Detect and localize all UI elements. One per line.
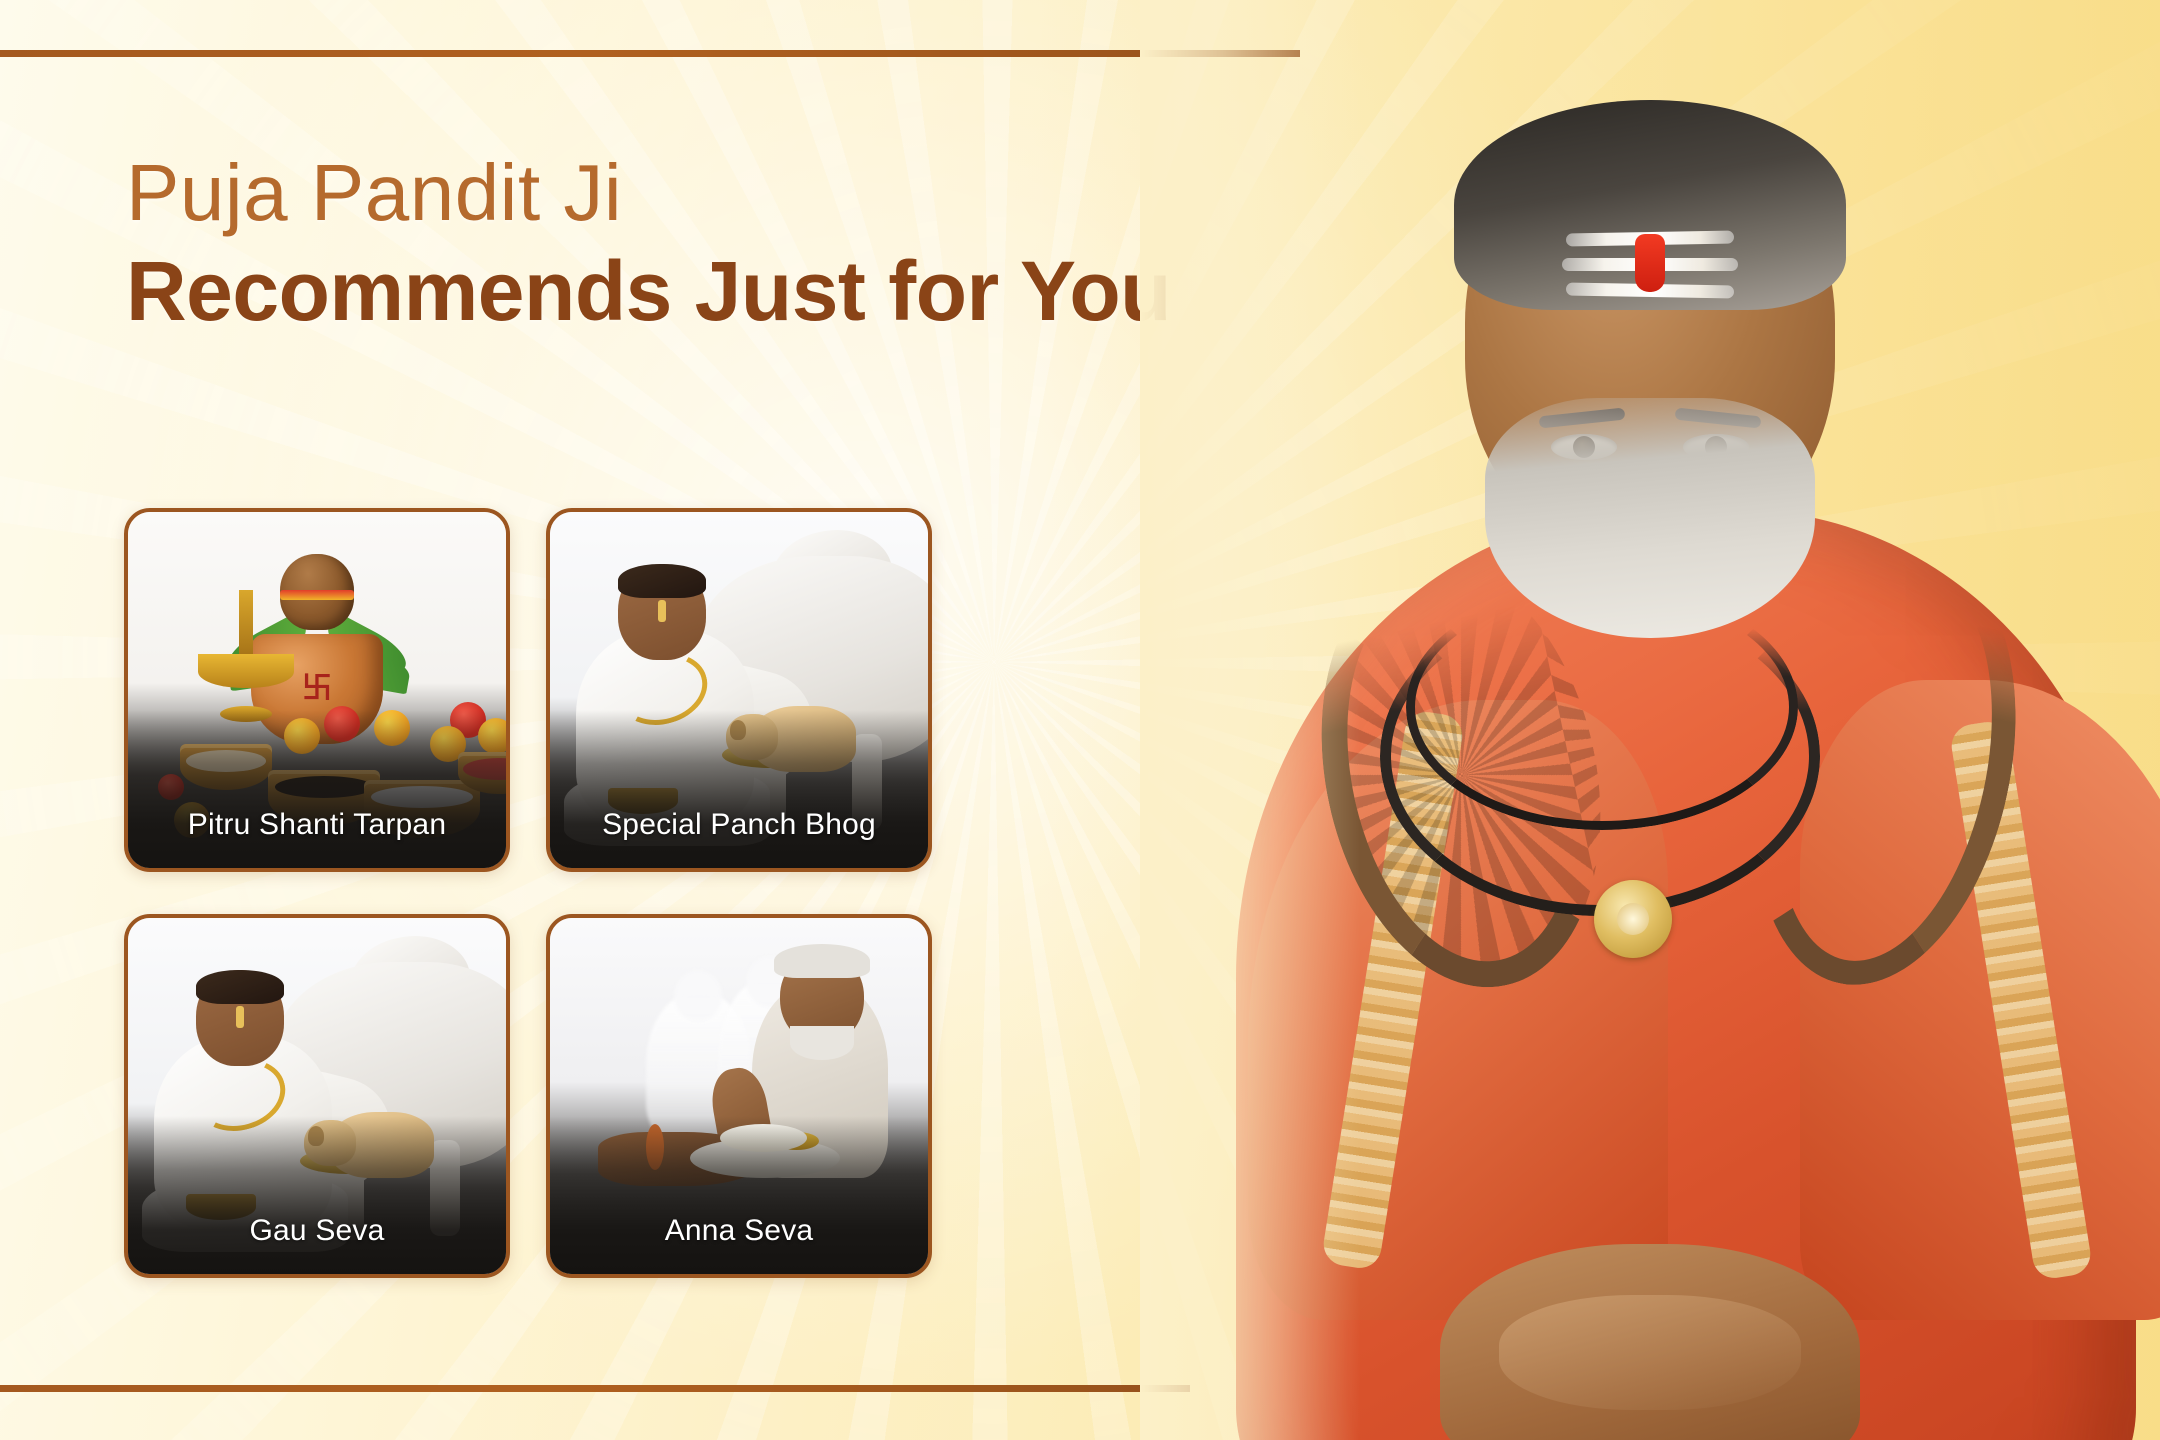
service-card-anna-seva[interactable]: Anna Seva — [546, 914, 932, 1278]
pandit-ji-portrait — [1140, 0, 2160, 1440]
heading-kicker: Puja Pandit Ji — [126, 150, 1171, 236]
recommendation-banner: Puja Pandit Ji Recommends Just for You — [0, 0, 2160, 1440]
card-label: Anna Seva — [550, 1116, 928, 1274]
recommendation-card-grid: Pitru Shanti Tarpan Speci — [124, 508, 932, 1278]
divider-line-top — [0, 50, 1300, 57]
black-bead-mala — [1406, 584, 1798, 830]
service-card-special-panch-bhog[interactable]: Special Panch Bhog — [546, 508, 932, 872]
heading-main: Recommends Just for You — [126, 246, 1171, 337]
card-label: Pitru Shanti Tarpan — [128, 710, 506, 868]
coconut-icon — [280, 554, 354, 630]
card-label: Gau Seva — [128, 1116, 506, 1274]
banner-heading: Puja Pandit Ji Recommends Just for You — [126, 150, 1171, 337]
service-card-gau-seva[interactable]: Gau Seva — [124, 914, 510, 1278]
divider-line-bottom — [0, 1385, 1190, 1392]
service-card-pitru-shanti-tarpan[interactable]: Pitru Shanti Tarpan — [124, 508, 510, 872]
card-label: Special Panch Bhog — [550, 710, 928, 868]
red-tilak-mark-icon — [1635, 234, 1665, 292]
folded-hands — [1440, 1244, 1860, 1440]
gold-pendant-icon — [1594, 880, 1672, 958]
diya-lamp-icon — [198, 654, 294, 688]
